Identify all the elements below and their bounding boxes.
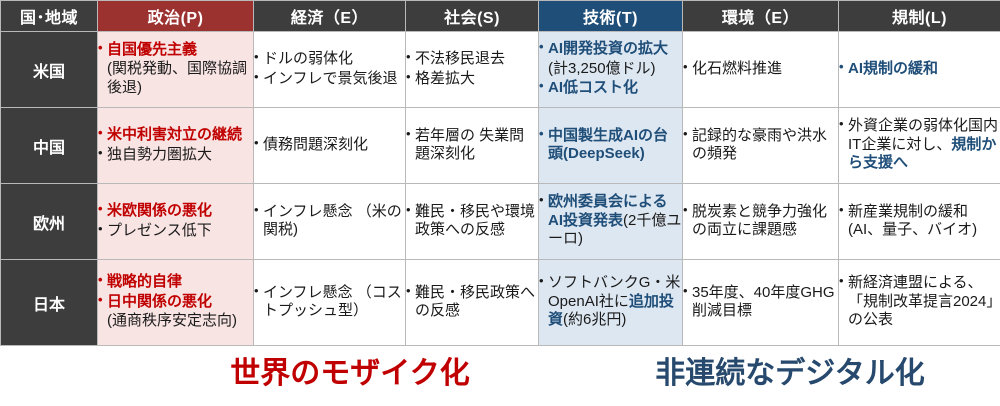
- cell-日本-legal: 新経済連盟による、「規制改革提言2024」の公表: [839, 260, 1000, 346]
- bullet-item: 外資企業の弱体化国内IT企業に対し、規制から支援へ: [839, 117, 1000, 172]
- row-header-欧州: 欧州: [1, 184, 98, 260]
- cell-米国-environment: 化石燃料推進: [683, 32, 839, 108]
- bullet-item: 若年層の 失業問題深刻化: [406, 127, 538, 164]
- pest-analysis-slide: 国･地域 政治(P) 経済（E） 社会(S) 技術(T) 環境（E） 規制(L)…: [0, 0, 1000, 406]
- cell-中国-society: 若年層の 失業問題深刻化: [406, 108, 539, 184]
- bullet-item: 新経済連盟による、「規制改革提言2024」の公表: [839, 274, 1000, 329]
- text-run: (約6兆円): [563, 311, 626, 328]
- bullet-item: AI開発投資の拡大: [539, 40, 682, 58]
- column-header-technology: 技術(T): [539, 1, 683, 32]
- table-row: 米国自国優先主義(関税発動、国際協調後退)ドルの弱体化インフレで景気後退不法移民…: [1, 32, 1000, 108]
- bullet-item: (通商秩序安定志向): [98, 312, 253, 330]
- bullet-item: 格差拡大: [406, 70, 538, 88]
- bullet-item: 米欧関係の悪化: [98, 202, 253, 220]
- bullet-item: プレゼンス低下: [98, 222, 253, 240]
- cell-欧州-legal: 新産業規制の緩和 (AI、量子、バイオ): [839, 184, 1000, 260]
- caption-left: 世界のモザイク化: [150, 348, 550, 392]
- bullet-item: 欧州委員会によるAI投資発表(2千億ユーロ): [539, 193, 682, 248]
- bullet-item: ドルの弱体化: [254, 50, 405, 68]
- cell-欧州-society: 難民・移民や環境政策への反感: [406, 184, 539, 260]
- pest-table: 国･地域 政治(P) 経済（E） 社会(S) 技術(T) 環境（E） 規制(L)…: [0, 0, 1000, 346]
- cell-日本-economy: インフレ懸念 （コストプッシュ型）: [254, 260, 406, 346]
- bullet-item: 日中関係の悪化: [98, 293, 253, 311]
- column-header-politics: 政治(P): [98, 1, 254, 32]
- bullet-item: AI低コスト化: [539, 79, 682, 97]
- row-header-日本: 日本: [1, 260, 98, 346]
- cell-米国-legal: AI規制の緩和: [839, 32, 1000, 108]
- column-header-environment: 環境（E）: [683, 1, 839, 32]
- bullet-item: 化石燃料推進: [683, 60, 838, 78]
- cell-中国-politics: 米中利害対立の継続独自勢力圏拡大: [98, 108, 254, 184]
- bullet-item: 難民・移民政策への反感: [406, 284, 538, 321]
- table-row: 欧州米欧関係の悪化プレゼンス低下インフレ懸念 （米の関税)難民・移民や環境政策へ…: [1, 184, 1000, 260]
- cell-米国-economy: ドルの弱体化インフレで景気後退: [254, 32, 406, 108]
- row-header-米国: 米国: [1, 32, 98, 108]
- table-header-row: 国･地域 政治(P) 経済（E） 社会(S) 技術(T) 環境（E） 規制(L): [1, 1, 1000, 32]
- bullet-item: 35年度、40年度GHG削減目標: [683, 284, 838, 321]
- bullet-item: インフレで景気後退: [254, 70, 405, 88]
- cell-米国-technology: AI開発投資の拡大(計3,250億ドル)AI低コスト化: [539, 32, 683, 108]
- bullet-item: (計3,250億ドル): [539, 60, 682, 78]
- cell-欧州-technology: 欧州委員会によるAI投資発表(2千億ユーロ): [539, 184, 683, 260]
- cell-米国-politics: 自国優先主義(関税発動、国際協調後退): [98, 32, 254, 108]
- bullet-item: 独自勢力圏拡大: [98, 146, 253, 164]
- cell-日本-society: 難民・移民政策への反感: [406, 260, 539, 346]
- caption-right: 非連続なデジタル化: [590, 348, 990, 392]
- bullet-item: 債務問題深刻化: [254, 136, 405, 154]
- bullet-item: 戦略的自律: [98, 273, 253, 291]
- bullet-item: AI規制の緩和: [839, 60, 1000, 78]
- cell-日本-politics: 戦略的自律日中関係の悪化(通商秩序安定志向): [98, 260, 254, 346]
- column-header-legal: 規制(L): [839, 1, 1000, 32]
- cell-欧州-environment: 脱炭素と競争力強化の両立に課題感: [683, 184, 839, 260]
- cell-欧州-politics: 米欧関係の悪化プレゼンス低下: [98, 184, 254, 260]
- cell-日本-technology: ソフトバンクG・米OpenAI社に追加投資(約6兆円): [539, 260, 683, 346]
- cell-中国-economy: 債務問題深刻化: [254, 108, 406, 184]
- cell-米国-society: 不法移民退去格差拡大: [406, 32, 539, 108]
- bullet-item: ソフトバンクG・米OpenAI社に追加投資(約6兆円): [539, 274, 682, 329]
- table-row: 中国米中利害対立の継続独自勢力圏拡大債務問題深刻化若年層の 失業問題深刻化中国製…: [1, 108, 1000, 184]
- bullet-item: 自国優先主義: [98, 41, 253, 59]
- cell-中国-legal: 外資企業の弱体化国内IT企業に対し、規制から支援へ: [839, 108, 1000, 184]
- column-header-economy: 経済（E）: [254, 1, 406, 32]
- bullet-item: 米中利害対立の継続: [98, 126, 253, 144]
- bullet-item: (関税発動、国際協調後退): [98, 60, 253, 97]
- bullet-item: インフレ懸念 （米の関税): [254, 203, 405, 240]
- cell-中国-technology: 中国製生成AIの台頭(DeepSeek): [539, 108, 683, 184]
- bullet-item: 新産業規制の緩和 (AI、量子、バイオ): [839, 203, 1000, 240]
- cell-中国-environment: 記録的な豪雨や洪水の頻発: [683, 108, 839, 184]
- bullet-item: 中国製生成AIの台頭(DeepSeek): [539, 127, 682, 164]
- table-body: 米国自国優先主義(関税発動、国際協調後退)ドルの弱体化インフレで景気後退不法移民…: [1, 32, 1000, 346]
- cell-日本-environment: 35年度、40年度GHG削減目標: [683, 260, 839, 346]
- bullet-item: インフレ懸念 （コストプッシュ型）: [254, 284, 405, 321]
- table-row: 日本戦略的自律日中関係の悪化(通商秩序安定志向)インフレ懸念 （コストプッシュ型…: [1, 260, 1000, 346]
- column-header-society: 社会(S): [406, 1, 539, 32]
- bullet-item: 記録的な豪雨や洪水の頻発: [683, 127, 838, 164]
- row-header-中国: 中国: [1, 108, 98, 184]
- cell-欧州-economy: インフレ懸念 （米の関税): [254, 184, 406, 260]
- bullet-item: 脱炭素と競争力強化の両立に課題感: [683, 203, 838, 240]
- bullet-item: 難民・移民や環境政策への反感: [406, 203, 538, 240]
- bullet-item: 不法移民退去: [406, 50, 538, 68]
- column-header-region: 国･地域: [1, 1, 98, 32]
